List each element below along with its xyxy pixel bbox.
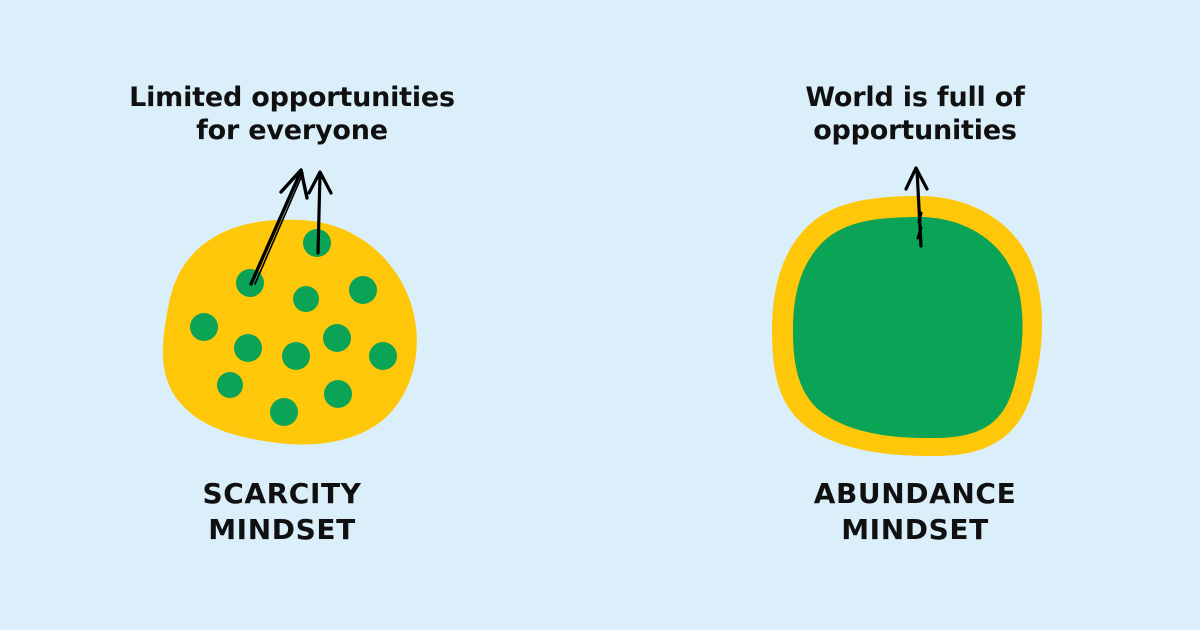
opportunity-dot bbox=[217, 372, 243, 398]
opportunity-dot bbox=[234, 334, 262, 362]
opportunity-dot bbox=[270, 398, 298, 426]
abundance-core-shape bbox=[793, 217, 1023, 438]
opportunity-dot bbox=[324, 380, 352, 408]
abundance-bottom-caption: ABUNDANCE MINDSET bbox=[685, 476, 1145, 549]
opportunity-dot bbox=[282, 342, 310, 370]
panel-abundance-mindset: World is full of opportunities ABUNDANCE… bbox=[600, 0, 1200, 630]
scarcity-bottom-caption: SCARCITY MINDSET bbox=[52, 476, 512, 549]
panel-scarcity-mindset: Limited opportunities for everyone bbox=[0, 0, 600, 630]
opportunity-dot bbox=[293, 286, 319, 312]
opportunity-dot bbox=[369, 342, 397, 370]
infographic-canvas: Limited opportunities for everyone bbox=[0, 0, 1200, 630]
opportunity-dot bbox=[190, 313, 218, 341]
opportunity-dot bbox=[323, 324, 351, 352]
opportunity-dot bbox=[349, 276, 377, 304]
